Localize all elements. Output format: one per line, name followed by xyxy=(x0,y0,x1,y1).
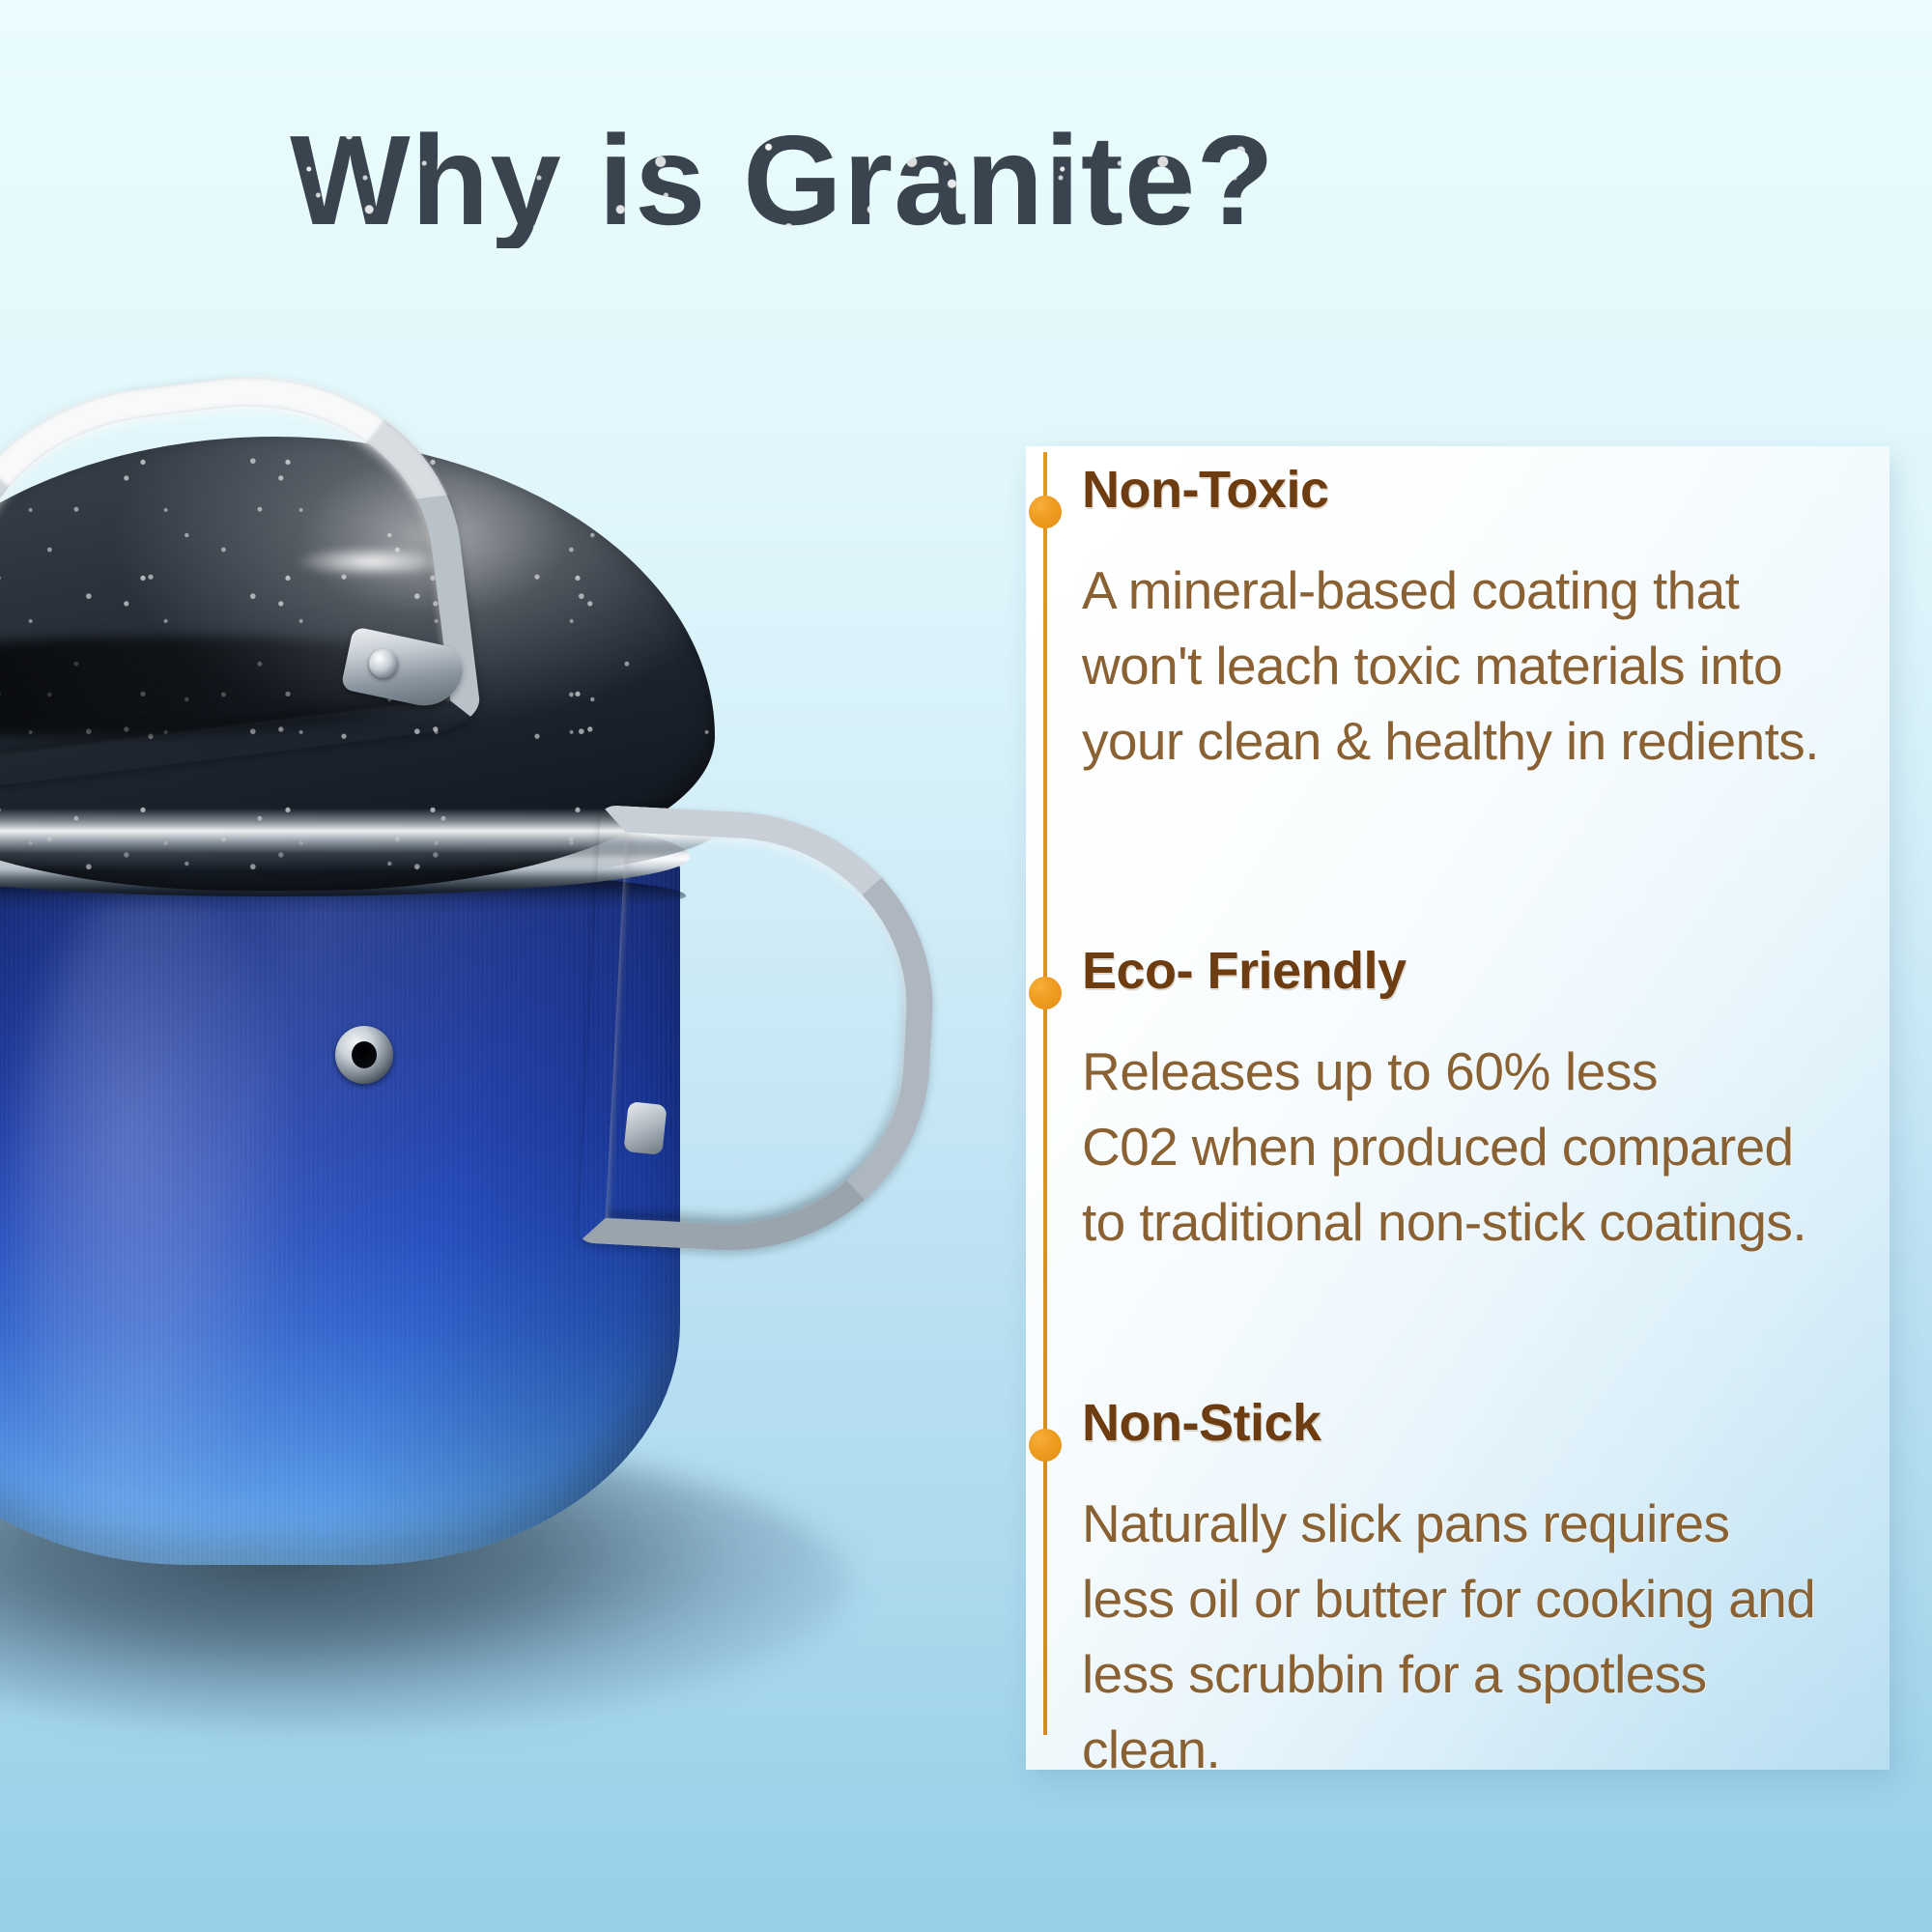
product-infographic: Why is Granite? Non-Toxic A mi xyxy=(0,0,1932,1932)
feature-body-line: Naturally slick pans requires xyxy=(1082,1493,1729,1553)
feature-body-line: C02 when produced compared xyxy=(1082,1117,1794,1177)
feature-body-line: Releases up to 60% less xyxy=(1082,1041,1658,1101)
feature-heading: Non-Toxic xyxy=(1082,464,1855,516)
feature-body-line: won't leach toxic materials into xyxy=(1082,636,1782,696)
bullet-dot-icon-non-stick xyxy=(1029,1429,1062,1462)
granite-cookware-pot-image xyxy=(0,348,869,1719)
feature-body: A mineral-based coating that won't leach… xyxy=(1082,553,1855,779)
pot-body-highlight xyxy=(16,879,292,1537)
feature-body-line: less oil or butter for cooking and xyxy=(1082,1569,1815,1629)
feature-body: Releases up to 60% less C02 when produce… xyxy=(1082,1034,1855,1260)
feature-body: Naturally slick pans requires less oil o… xyxy=(1082,1486,1855,1787)
bullet-dot-icon-non-toxic xyxy=(1029,496,1062,528)
feature-heading: Non-Stick xyxy=(1082,1397,1855,1449)
pot-body xyxy=(0,850,680,1565)
handle-rivet xyxy=(369,649,398,678)
feature-block-non-stick: Non-Stick Naturally slick pans requires … xyxy=(1082,1397,1855,1787)
feature-body-line: your clean & healthy in redients. xyxy=(1082,711,1819,771)
page-title: Why is Granite? xyxy=(0,114,1565,248)
feature-body-line: A mineral-based coating that xyxy=(1082,560,1739,620)
feature-block-eco-friendly: Eco- Friendly Releases up to 60% less C0… xyxy=(1082,945,1855,1260)
steam-vent-hole xyxy=(352,1041,377,1068)
feature-body-line: less scrubbin for a spotless clean. xyxy=(1082,1644,1707,1779)
feature-body-line: to traditional non-stick coatings. xyxy=(1082,1192,1806,1252)
side-handle-rivet xyxy=(623,1101,667,1155)
feature-block-non-toxic: Non-Toxic A mineral-based coating that w… xyxy=(1082,464,1855,779)
bullet-dot-icon-eco-friendly xyxy=(1029,977,1062,1009)
side-loop-handle-icon xyxy=(578,805,942,1261)
feature-heading: Eco- Friendly xyxy=(1082,945,1855,997)
timeline-connector-line xyxy=(1043,452,1047,1735)
